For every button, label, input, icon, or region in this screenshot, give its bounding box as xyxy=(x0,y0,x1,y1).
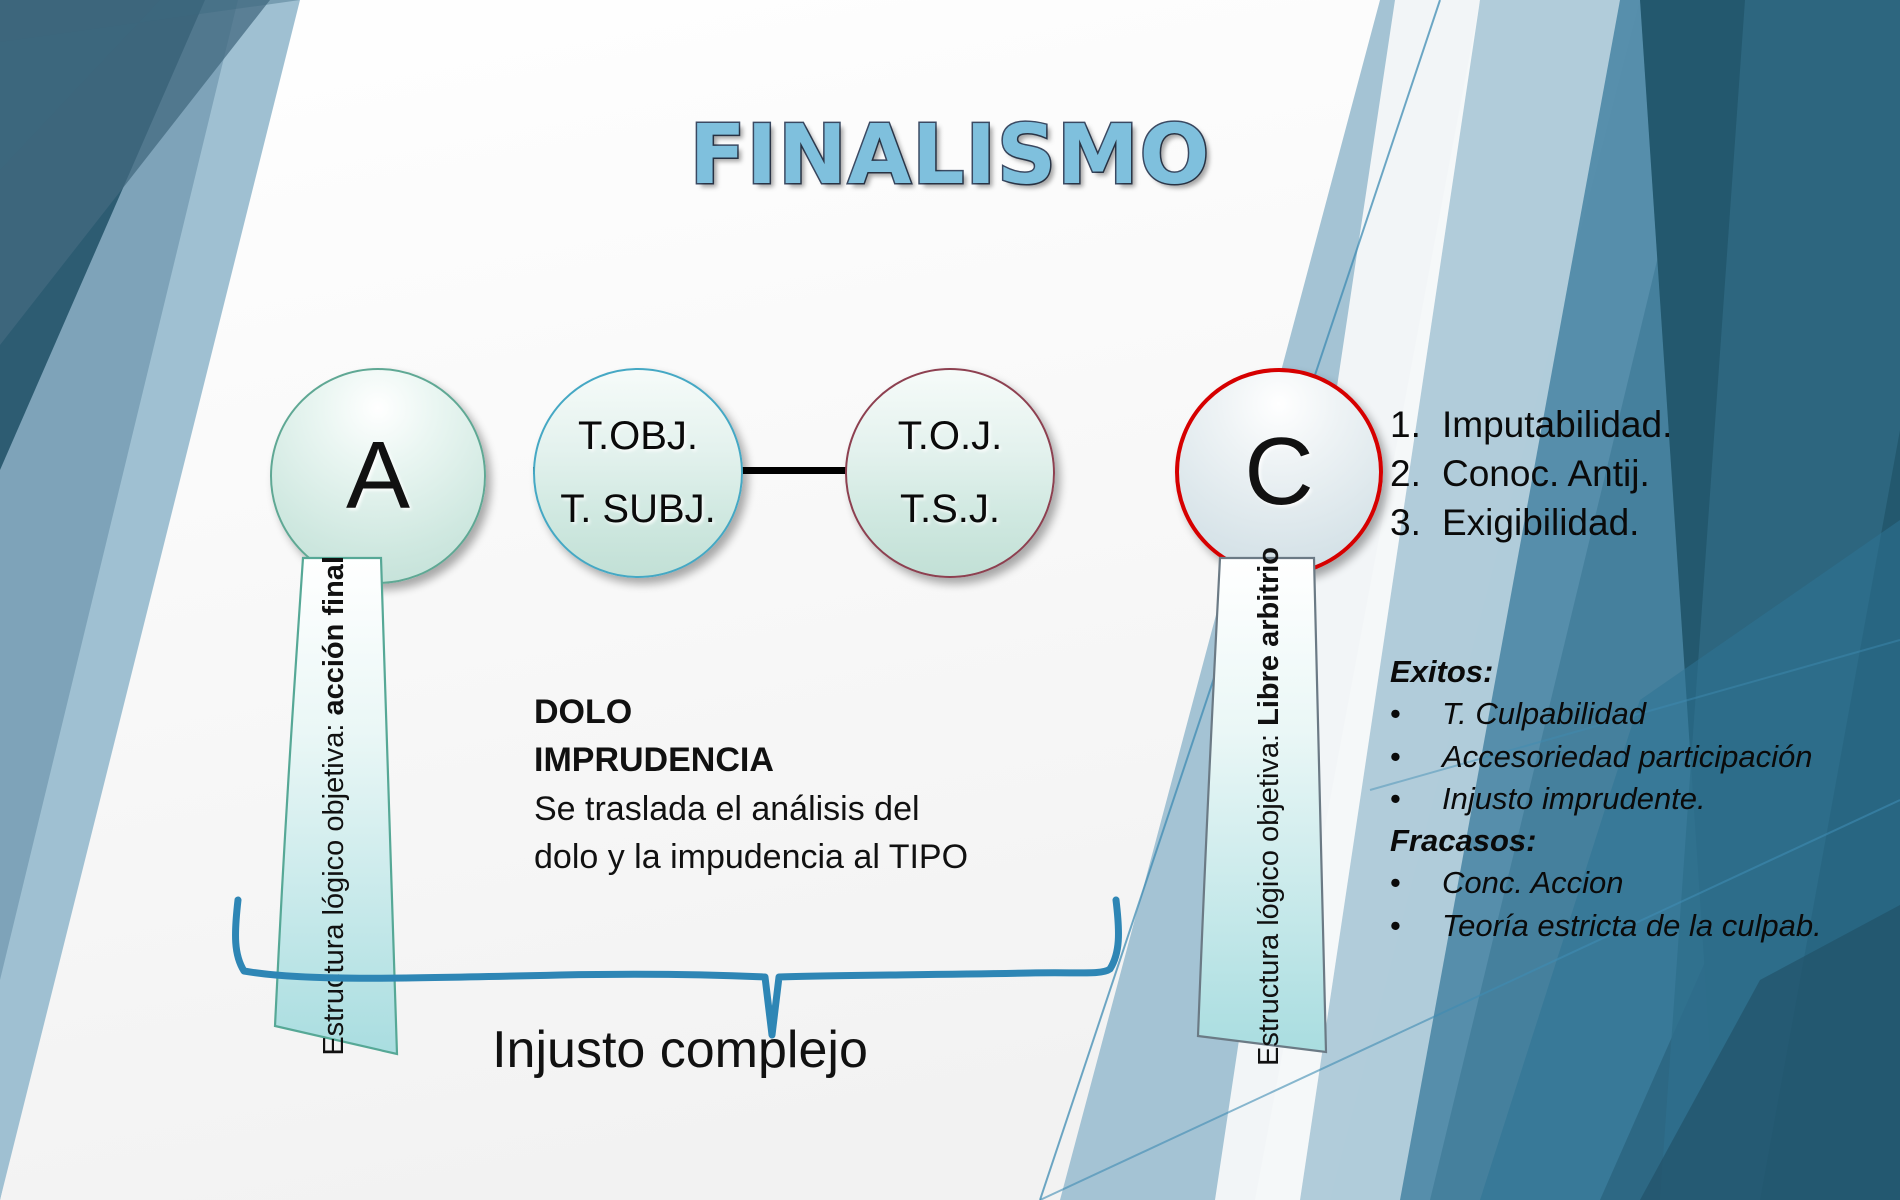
outcomes-panel: Exitos: • T. Culpabilidad • Accesoriedad… xyxy=(1390,650,1860,946)
list-item-number: 3. xyxy=(1390,498,1442,547)
node-tobj-label: T.OBJ. xyxy=(578,414,698,459)
list-item: • Conc. Accion xyxy=(1390,863,1860,903)
node-circle-c[interactable]: C xyxy=(1175,368,1383,576)
center-text-line-4: dolo y la impudencia al TIPO xyxy=(534,833,1094,881)
page-title: FINALISMO xyxy=(0,108,1900,203)
list-item: • Injusto imprudente. xyxy=(1390,779,1860,819)
node-circle-tipo-objetivo[interactable]: T.OBJ. T. SUBJ. xyxy=(533,368,743,578)
column-right-text: Estructura lógico objetiva: Libre arbitr… xyxy=(1253,547,1286,1066)
list-item: • Teoría estricta de la culpab. xyxy=(1390,906,1860,946)
success-item-label: Injusto imprudente. xyxy=(1442,779,1860,819)
list-item-number: 1. xyxy=(1390,400,1442,449)
list-item: 2. Conoc. Antij. xyxy=(1390,449,1850,498)
center-text-line-1: DOLO xyxy=(534,688,1094,736)
center-text-line-3: Se traslada el análisis del xyxy=(534,785,1094,833)
column-right-text-wrap: Estructura lógico objetiva: Libre arbitr… xyxy=(1180,556,1360,1056)
slide-canvas: FINALISMO A T.OBJ. T. SUBJ. T.O.J. T.S.J… xyxy=(0,0,1900,1200)
node-circle-a-label: A xyxy=(346,421,410,531)
list-item: 3. Exigibilidad. xyxy=(1390,498,1850,547)
numbered-list: 1. Imputabilidad. 2. Conoc. Antij. 3. Ex… xyxy=(1390,400,1850,548)
bullet-icon: • xyxy=(1390,694,1442,734)
column-right: Estructura lógico objetiva: Libre arbitr… xyxy=(1180,556,1360,1056)
bullet-icon: • xyxy=(1390,737,1442,777)
list-item: • T. Culpabilidad xyxy=(1390,694,1860,734)
list-item: 1. Imputabilidad. xyxy=(1390,400,1850,449)
list-item: • Accesoriedad participación xyxy=(1390,737,1860,777)
node-toj-label: T.O.J. xyxy=(898,414,1002,459)
list-item-number: 2. xyxy=(1390,449,1442,498)
column-right-lead: Estructura lógico objetiva: xyxy=(1253,733,1285,1065)
success-heading: Exitos: xyxy=(1390,652,1860,692)
success-item-label: Accesoriedad participación xyxy=(1442,737,1860,777)
center-text-block: DOLO IMPRUDENCIA Se traslada el análisis… xyxy=(534,688,1094,881)
node-tsubj-label: T. SUBJ. xyxy=(560,487,716,532)
success-item-label: T. Culpabilidad xyxy=(1442,694,1860,734)
failure-heading: Fracasos: xyxy=(1390,821,1860,861)
node-circle-a[interactable]: A xyxy=(270,368,486,584)
footer-label: Injusto complejo xyxy=(400,1020,960,1080)
list-item-label: Exigibilidad. xyxy=(1442,498,1639,547)
node-circle-tipo-justificacion[interactable]: T.O.J. T.S.J. xyxy=(845,368,1055,578)
column-left-emphasis: acción final xyxy=(318,556,350,716)
failure-item-label: Teoría estricta de la culpab. xyxy=(1442,906,1860,946)
bullet-icon: • xyxy=(1390,906,1442,946)
list-item-label: Conoc. Antij. xyxy=(1442,449,1650,498)
bullet-icon: • xyxy=(1390,863,1442,903)
node-tsj-label: T.S.J. xyxy=(900,487,1000,532)
node-circle-c-label: C xyxy=(1244,417,1313,527)
bullet-icon: • xyxy=(1390,779,1442,819)
column-right-emphasis: Libre arbitrio xyxy=(1253,547,1285,726)
list-item-label: Imputabilidad. xyxy=(1442,400,1672,449)
failure-item-label: Conc. Accion xyxy=(1442,863,1860,903)
center-text-line-2: IMPRUDENCIA xyxy=(534,736,1094,784)
